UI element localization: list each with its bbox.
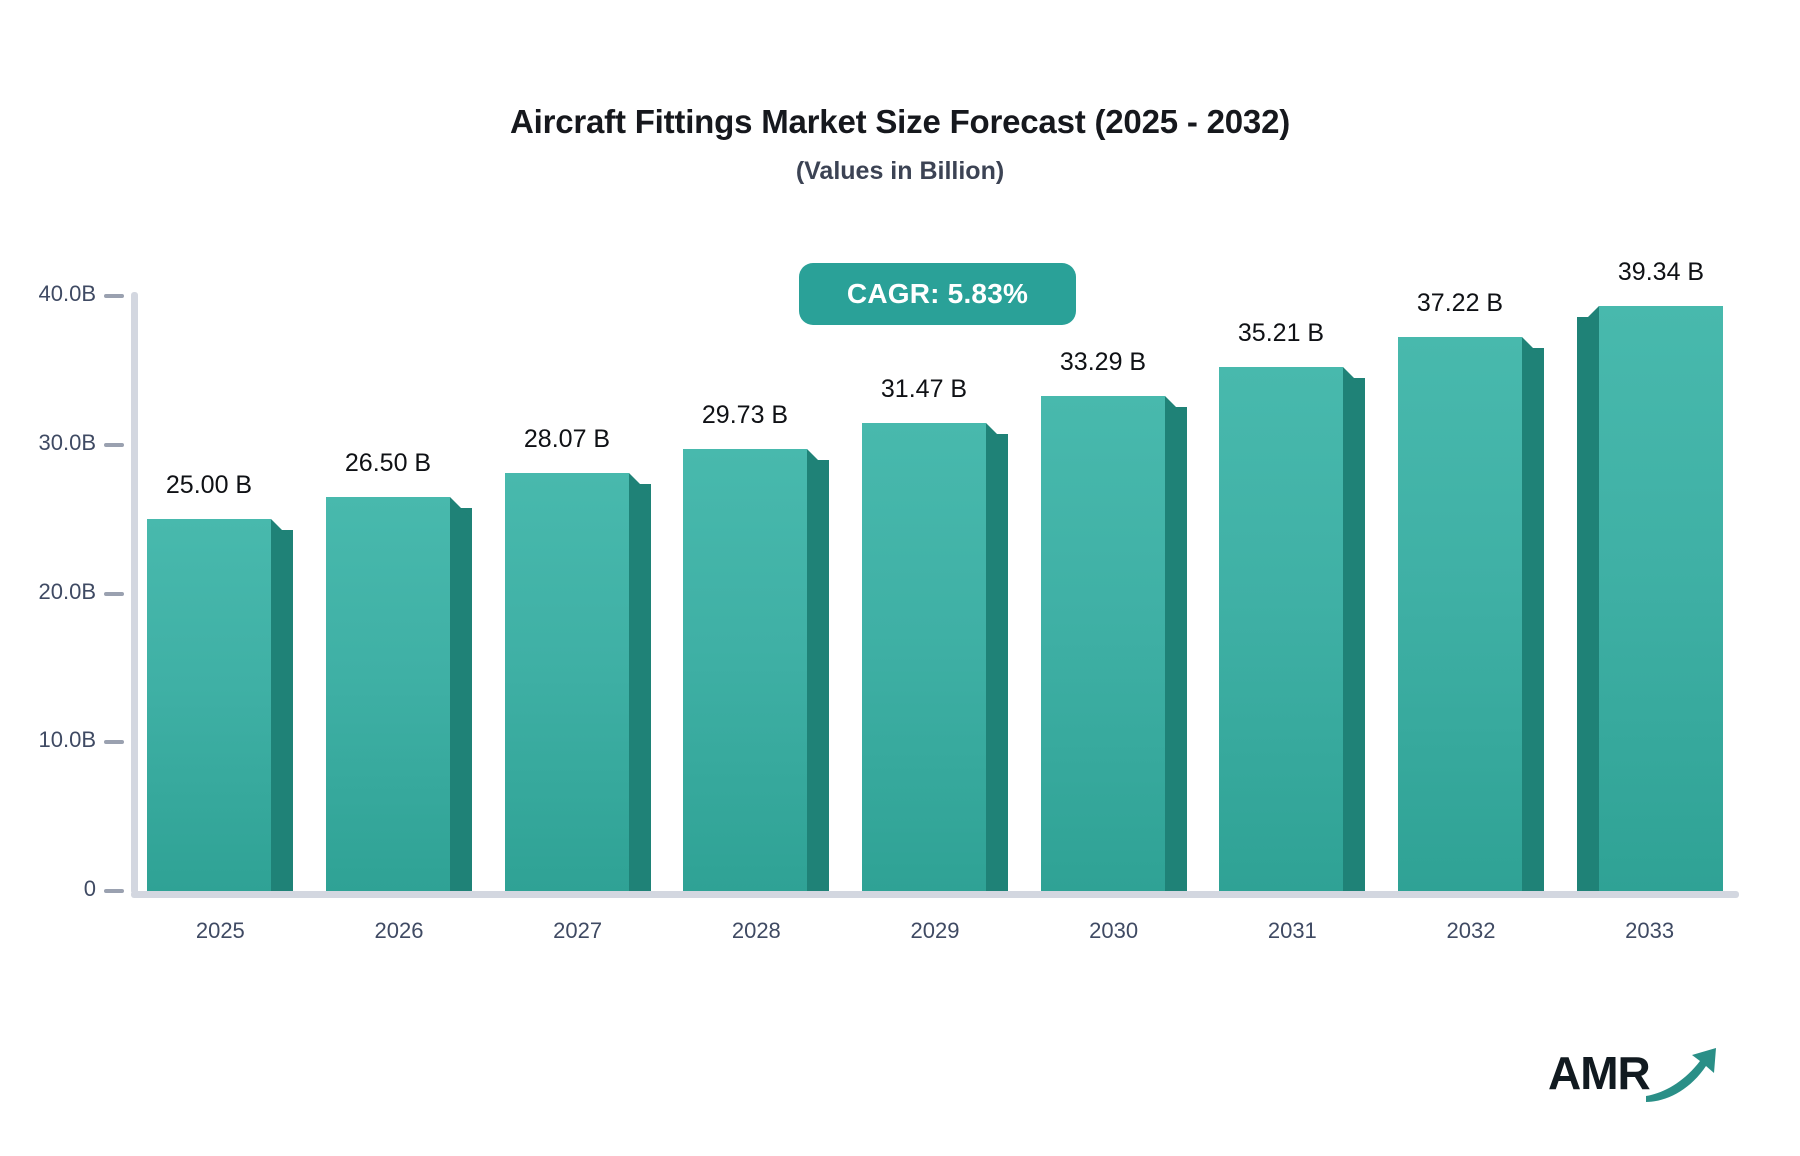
- y-axis-tick-label: 0: [0, 876, 96, 902]
- x-axis-tick-label: 2029: [846, 918, 1025, 944]
- logo-text: AMR: [1548, 1050, 1650, 1096]
- bar-front-face[interactable]: [1041, 396, 1165, 891]
- bar-side-face: [1165, 407, 1187, 891]
- x-axis-tick-label: 2025: [131, 918, 310, 944]
- bar-value-label: 25.00 B: [107, 471, 311, 500]
- y-axis-tick: [104, 592, 124, 596]
- bar-value-label: 29.73 B: [643, 401, 847, 430]
- bar-top-bevel: [629, 473, 651, 495]
- bar-side-face: [1577, 317, 1599, 891]
- bar-value-label: 26.50 B: [286, 449, 490, 478]
- x-axis-tick-label: 2031: [1203, 918, 1382, 944]
- chart-container: Aircraft Fittings Market Size Forecast (…: [0, 0, 1800, 1156]
- x-axis-tick-label: 2026: [310, 918, 489, 944]
- bar-front-face[interactable]: [1219, 367, 1343, 891]
- y-axis-tick-label: 30.0B: [0, 430, 96, 456]
- y-axis-line: [131, 292, 138, 894]
- bar-value-label: 33.29 B: [1001, 348, 1205, 377]
- bar-value-label: 31.47 B: [822, 375, 1026, 404]
- bar-top-bevel: [986, 423, 1008, 445]
- x-axis-tick-label: 2027: [488, 918, 667, 944]
- bar-value-label: 39.34 B: [1559, 258, 1763, 287]
- x-axis-tick-label: 2032: [1382, 918, 1561, 944]
- bar-front-face[interactable]: [505, 473, 629, 891]
- growth-arrow-icon: [1644, 1046, 1728, 1108]
- bar-top-bevel: [1577, 306, 1599, 328]
- bar-front-face[interactable]: [1398, 337, 1522, 891]
- bar-side-face: [986, 434, 1008, 891]
- x-axis-tick-label: 2033: [1560, 918, 1739, 944]
- bar-top-bevel: [1343, 367, 1365, 389]
- bar-top-bevel: [271, 519, 293, 541]
- y-axis-tick-label: 10.0B: [0, 727, 96, 753]
- bar-side-face: [1522, 348, 1544, 891]
- bar-side-face: [629, 484, 651, 891]
- bar-top-bevel: [1165, 396, 1187, 418]
- x-axis-tick-label: 2028: [667, 918, 846, 944]
- bar-side-face: [807, 460, 829, 891]
- plot-area: 010.0B20.0B30.0B40.0B25.00 B202526.50 B2…: [0, 0, 1800, 1156]
- bar-value-label: 37.22 B: [1358, 289, 1562, 318]
- amr-logo: AMR: [1548, 1046, 1728, 1110]
- bar-side-face: [1343, 378, 1365, 891]
- y-axis-tick: [104, 443, 124, 447]
- bar-front-face[interactable]: [326, 497, 450, 891]
- y-axis-tick-label: 40.0B: [0, 281, 96, 307]
- bar-top-bevel: [807, 449, 829, 471]
- y-axis-tick-label: 20.0B: [0, 579, 96, 605]
- bar-top-bevel: [450, 497, 472, 519]
- bar-top-bevel: [1522, 337, 1544, 359]
- y-axis-tick: [104, 740, 124, 744]
- bar-value-label: 28.07 B: [465, 425, 669, 454]
- x-axis-line: [131, 891, 1739, 898]
- x-axis-tick-label: 2030: [1024, 918, 1203, 944]
- bar-side-face: [450, 508, 472, 891]
- y-axis-tick: [104, 294, 124, 298]
- bar-front-face[interactable]: [862, 423, 986, 891]
- bar-front-face[interactable]: [147, 519, 271, 891]
- bar-front-face[interactable]: [683, 449, 807, 891]
- bar-side-face: [271, 530, 293, 891]
- bar-value-label: 35.21 B: [1179, 319, 1383, 348]
- bar-front-face[interactable]: [1599, 306, 1723, 891]
- y-axis-tick: [104, 889, 124, 893]
